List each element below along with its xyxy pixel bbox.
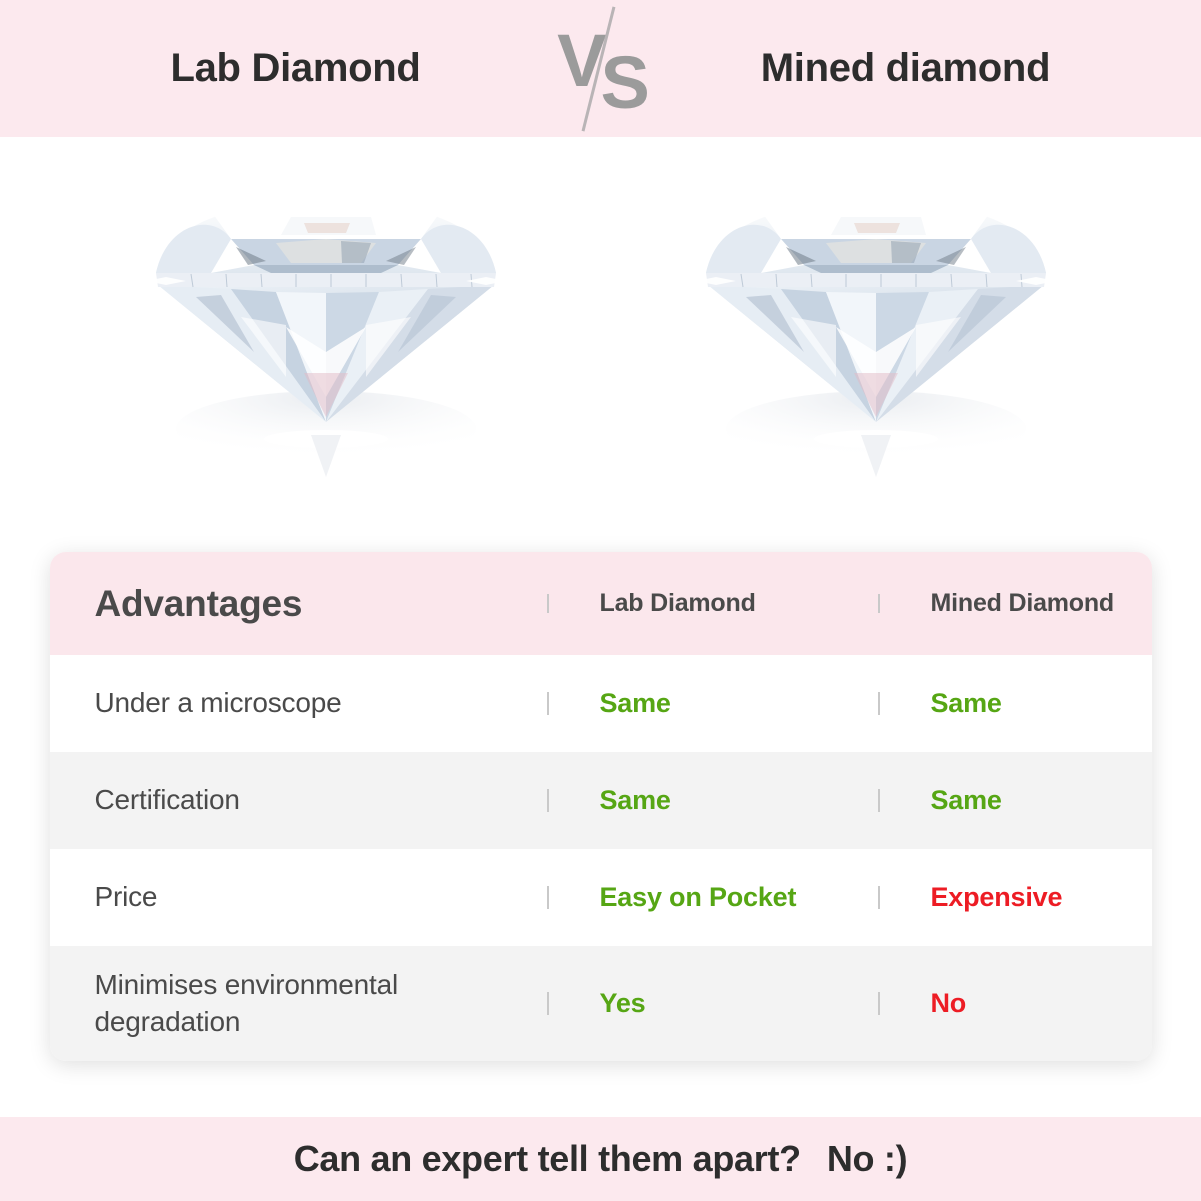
table-row: Under a microscope Same Same [50, 655, 1152, 752]
column-divider [878, 789, 880, 811]
column-divider [547, 789, 549, 811]
table-header-mined-diamond: Mined Diamond [878, 589, 1152, 618]
row-feature-cell: Under a microscope [50, 685, 547, 722]
mined-value: No [931, 988, 967, 1018]
row-feature-cell: Certification [50, 782, 547, 819]
table-header-row: Advantages Lab Diamond Mined Diamond [50, 552, 1152, 655]
row-mined-value-cell: Same [878, 688, 1152, 719]
header-band: Lab Diamond V S Mined diamond [0, 0, 1201, 137]
mined-value: Same [931, 785, 1002, 815]
feature-label: Minimises environmental degradation [95, 969, 399, 1037]
row-lab-value-cell: Yes [547, 988, 878, 1019]
row-mined-value-cell: Expensive [878, 882, 1152, 913]
feature-label: Price [95, 881, 158, 912]
row-lab-value-cell: Easy on Pocket [547, 882, 878, 913]
table-row: Certification Same Same [50, 752, 1152, 849]
column-divider [878, 594, 880, 613]
column-divider [878, 692, 880, 714]
lab-value: Same [600, 688, 671, 718]
table-header-advantages: Advantages [50, 583, 547, 625]
feature-label: Under a microscope [95, 687, 342, 718]
lab-value: Easy on Pocket [600, 882, 797, 912]
row-lab-value-cell: Same [547, 785, 878, 816]
row-mined-value-cell: Same [878, 785, 1152, 816]
versus-icon: V S [541, 9, 661, 129]
column-divider [878, 992, 880, 1014]
page-title-mined-diamond: Mined diamond [661, 46, 1151, 91]
footer-band: Can an expert tell them apart? No :) [0, 1117, 1201, 1201]
table-row: Price Easy on Pocket Expensive [50, 849, 1152, 946]
advantages-label: Advantages [95, 583, 303, 624]
column-divider [547, 692, 549, 714]
row-feature-cell: Minimises environmental degradation [50, 967, 547, 1041]
versus-s-letter: S [601, 46, 644, 120]
row-feature-cell: Price [50, 879, 547, 916]
page-title-lab-diamond: Lab Diamond [51, 46, 541, 91]
mined-value: Same [931, 688, 1002, 718]
lab-diamond-image [136, 177, 516, 507]
column-divider [878, 886, 880, 908]
footer-answer: No :) [827, 1138, 907, 1180]
column-divider [547, 594, 549, 613]
lab-value: Same [600, 785, 671, 815]
row-mined-value-cell: No [878, 988, 1152, 1019]
comparison-table-zone: Advantages Lab Diamond Mined Diamond Und… [0, 537, 1201, 1067]
lab-value: Yes [600, 988, 646, 1018]
row-lab-value-cell: Same [547, 688, 878, 719]
lab-diamond-column-label: Lab Diamond [600, 589, 756, 617]
table-header-lab-diamond: Lab Diamond [547, 589, 878, 618]
footer-question: Can an expert tell them apart? [294, 1138, 801, 1180]
feature-label: Certification [95, 784, 240, 815]
diamond-image-stage [0, 137, 1201, 537]
versus-letters: V S [557, 32, 644, 106]
column-divider [547, 992, 549, 1014]
mined-diamond-image [686, 177, 1066, 507]
comparison-table: Advantages Lab Diamond Mined Diamond Und… [50, 552, 1152, 1061]
mined-diamond-column-label: Mined Diamond [931, 589, 1115, 617]
mined-value: Expensive [931, 882, 1063, 912]
column-divider [547, 886, 549, 908]
table-row: Minimises environmental degradation Yes … [50, 946, 1152, 1061]
